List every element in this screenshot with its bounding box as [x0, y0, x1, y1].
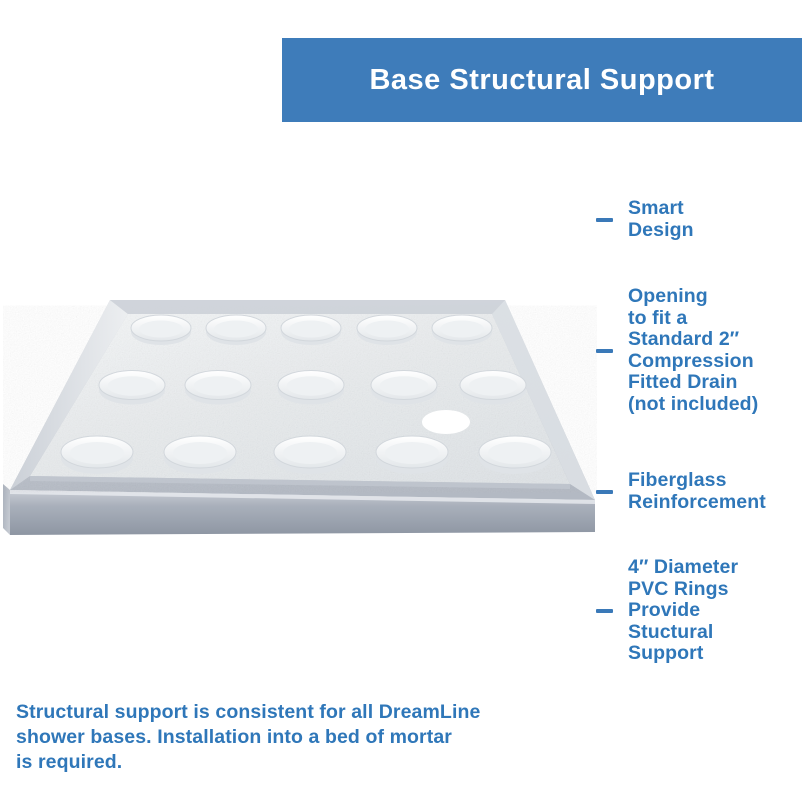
dash-icon: [596, 490, 613, 494]
callout-smart-design: Smart Design: [596, 198, 694, 241]
pvc-ring: [460, 371, 526, 405]
shower-base-graphic: [0, 270, 610, 560]
pvc-ring: [164, 436, 236, 474]
pvc-ring: [206, 315, 266, 345]
dash-icon: [596, 218, 613, 222]
pvc-ring: [278, 371, 344, 405]
header-banner: Base Structural Support: [282, 38, 802, 122]
callout-label: 4″ Diameter PVC Rings Provide Stuctural …: [628, 557, 738, 665]
shower-base-illustration: [0, 270, 610, 560]
pvc-ring: [274, 436, 346, 474]
callout-fiberglass-reinforcement: Fiberglass Reinforcement: [596, 470, 766, 513]
bottom-caption: Structural support is consistent for all…: [16, 700, 536, 775]
callout-label: Fiberglass Reinforcement: [628, 470, 766, 513]
pvc-ring: [281, 315, 341, 345]
pvc-ring: [99, 371, 165, 405]
pvc-ring: [376, 436, 448, 474]
dash-icon: [596, 609, 613, 613]
page-title: Base Structural Support: [369, 64, 714, 97]
callout-drain-opening: Opening to fit a Standard 2″ Compression…: [596, 286, 758, 415]
callout-label: Smart Design: [628, 198, 694, 241]
pvc-ring: [371, 371, 437, 405]
pvc-ring: [185, 371, 251, 405]
pvc-ring: [432, 315, 492, 345]
infographic-canvas: Base Structural Support: [0, 0, 806, 806]
pvc-ring: [479, 436, 551, 474]
drain-opening: [422, 410, 470, 434]
callout-pvc-rings: 4″ Diameter PVC Rings Provide Stuctural …: [596, 557, 738, 665]
dash-icon: [596, 349, 613, 353]
pvc-ring: [131, 315, 191, 345]
base-inner-wall-back: [110, 300, 505, 314]
pvc-ring: [357, 315, 417, 345]
callout-label: Opening to fit a Standard 2″ Compression…: [628, 286, 758, 415]
pvc-ring: [61, 436, 133, 474]
base-left-face: [3, 484, 10, 535]
